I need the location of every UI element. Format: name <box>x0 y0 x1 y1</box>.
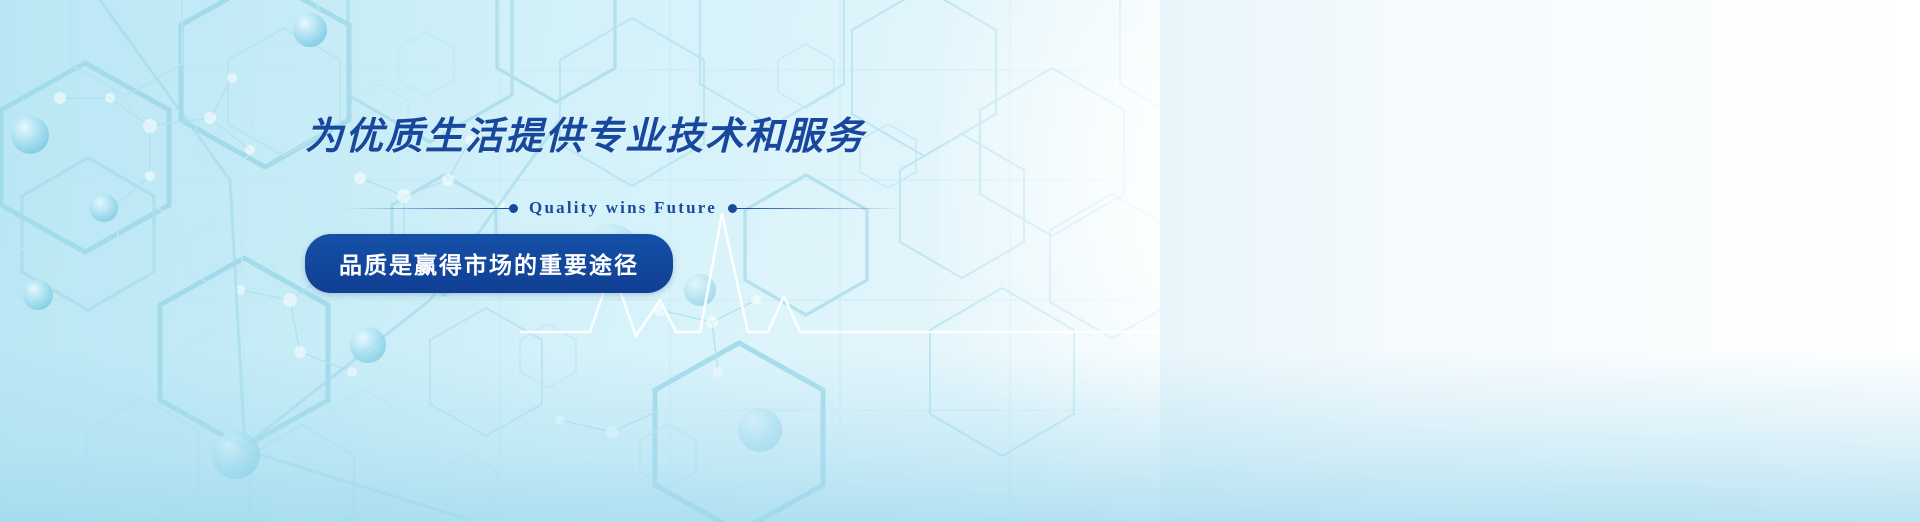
slogan-pill[interactable]: 品质是赢得市场的重要途径 <box>305 234 673 293</box>
slogan-pill-label: 品质是赢得市场的重要途径 <box>339 252 639 278</box>
tagline-text: Quality wins Future <box>518 198 728 218</box>
tagline-row: Quality wins Future <box>343 198 903 218</box>
tagline-rule-right <box>737 208 903 209</box>
page-title: 为优质生活提供专业技术和服务 <box>305 118 1065 156</box>
bullet-dot-icon <box>728 204 737 213</box>
banner-copy: 为优质生活提供专业技术和服务 Quality wins Future 品质是赢得… <box>305 118 1065 293</box>
tagline-rule-left <box>343 208 509 209</box>
hero-banner: 为优质生活提供专业技术和服务 Quality wins Future 品质是赢得… <box>0 0 1920 522</box>
bullet-dot-icon <box>509 204 518 213</box>
background-bottom-tint <box>0 352 1920 522</box>
